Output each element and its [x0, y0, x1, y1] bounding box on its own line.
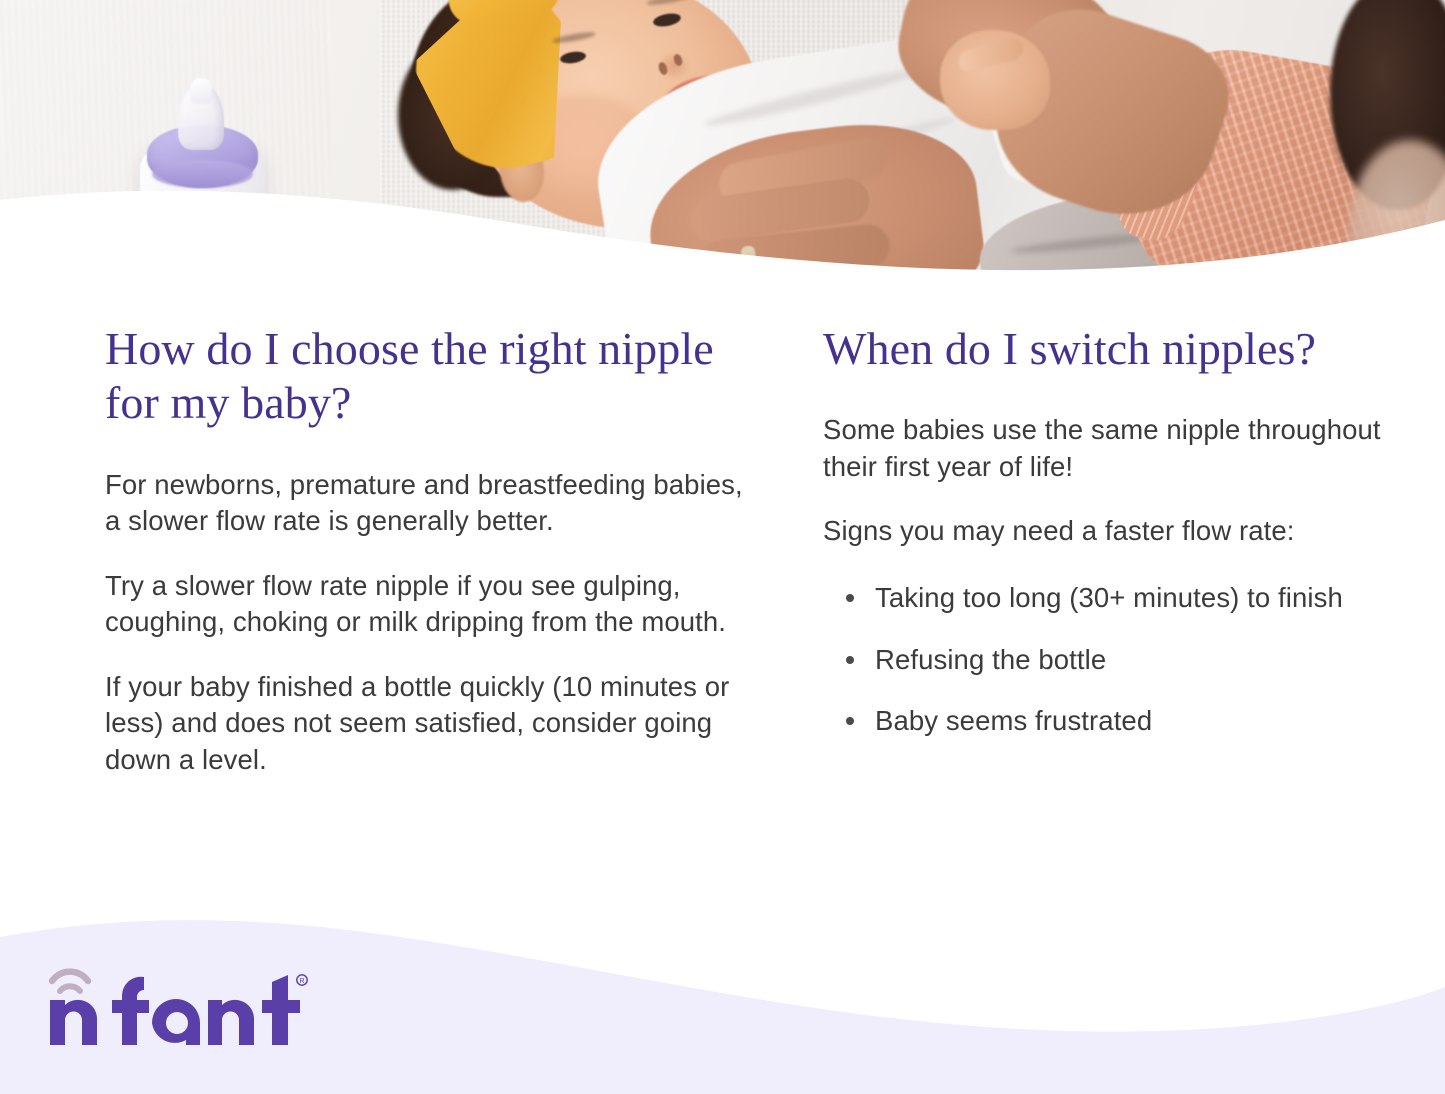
- signs-list: Taking too long (30+ minutes) to finish …: [823, 580, 1383, 740]
- nfant-logo-mark: R: [48, 966, 308, 1046]
- logo-letter-t: [262, 975, 300, 1045]
- paragraph-signs-faster-flow: Signs you may need a faster flow rate:: [823, 513, 1383, 550]
- list-item: Refusing the bottle: [823, 642, 1383, 679]
- bullet-dot-icon: [846, 656, 854, 664]
- list-item-label: Refusing the bottle: [875, 644, 1106, 675]
- page-root: How do I choose the right nipple for my …: [0, 0, 1445, 1094]
- registered-trademark-icon: R: [297, 975, 307, 985]
- nfant-logo[interactable]: R: [48, 966, 308, 1046]
- logo-letter-f: [112, 977, 149, 1045]
- paragraph-same-nipple-year: Some babies use the same nipple througho…: [823, 412, 1383, 485]
- paragraph-finished-quickly: If your baby finished a bottle quickly (…: [105, 669, 745, 779]
- logo-letter-n: [50, 1000, 97, 1045]
- hero-wave-divider: [0, 172, 1445, 300]
- logo-letter-a: [152, 999, 200, 1045]
- bullet-dot-icon: [846, 717, 854, 725]
- baby-bottle-nipple-tip: [190, 78, 212, 104]
- footer: R: [0, 889, 1445, 1094]
- list-item: Taking too long (30+ minutes) to finish: [823, 580, 1383, 617]
- list-item: Baby seems frustrated: [823, 703, 1383, 740]
- svg-text:R: R: [299, 978, 304, 985]
- wifi-arcs-icon: [52, 972, 88, 991]
- list-item-label: Baby seems frustrated: [875, 705, 1152, 736]
- bullet-dot-icon: [846, 594, 854, 602]
- paragraph-newborn-flow: For newborns, premature and breastfeedin…: [105, 467, 745, 540]
- list-item-label: Taking too long (30+ minutes) to finish: [875, 582, 1343, 613]
- heading-switch-nipples: When do I switch nipples?: [823, 322, 1383, 376]
- logo-letter-n2: [208, 1000, 254, 1045]
- column-choose-nipple: How do I choose the right nipple for my …: [105, 322, 745, 778]
- paragraph-slower-flow-signs: Try a slower flow rate nipple if you see…: [105, 568, 745, 641]
- hero-image: [0, 0, 1445, 300]
- column-switch-nipples: When do I switch nipples? Some babies us…: [823, 322, 1383, 740]
- heading-choose-nipple: How do I choose the right nipple for my …: [105, 322, 745, 431]
